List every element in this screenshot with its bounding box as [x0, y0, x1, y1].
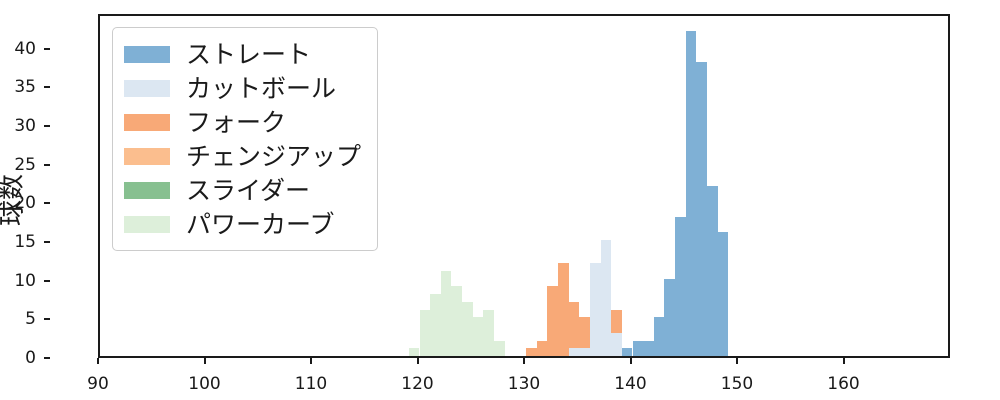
histogram-bar	[643, 341, 654, 356]
x-tick-mark	[97, 358, 99, 364]
histogram-bar	[611, 333, 622, 356]
x-tick-mark	[736, 358, 738, 364]
x-tick-label: 110	[295, 374, 327, 394]
histogram-bar	[718, 232, 729, 356]
y-tick-mark	[44, 318, 50, 320]
legend-item[interactable]: スライダー	[124, 173, 361, 207]
legend-color-swatch	[124, 80, 170, 97]
x-tick-label: 90	[87, 374, 109, 394]
legend-label: パワーカーブ	[186, 212, 335, 237]
legend-item[interactable]: パワーカーブ	[124, 207, 361, 241]
legend-label: ストレート	[186, 42, 311, 67]
legend-label: カットボール	[186, 76, 336, 101]
histogram-bar	[569, 348, 580, 356]
y-tick-label: 30	[14, 116, 36, 136]
x-tick-mark	[630, 358, 632, 364]
legend-label: フォーク	[186, 110, 286, 135]
x-axis: 90100110120130140150160	[0, 358, 1000, 400]
y-tick-label: 10	[14, 271, 36, 291]
y-tick-mark	[44, 164, 50, 166]
legend-label: スライダー	[186, 178, 310, 203]
x-tick-label: 140	[614, 374, 646, 394]
histogram-bar	[707, 186, 718, 356]
histogram-bar	[526, 348, 537, 356]
legend-label: チェンジアップ	[186, 144, 361, 169]
histogram-bar	[483, 310, 494, 356]
histogram-bar	[420, 310, 431, 356]
histogram-bar	[696, 62, 707, 356]
y-tick-label: 20	[14, 193, 36, 213]
y-tick-label: 40	[14, 39, 36, 59]
histogram-bar	[664, 279, 675, 356]
x-tick-label: 130	[508, 374, 540, 394]
histogram-bar	[590, 263, 601, 356]
x-tick-label: 100	[188, 374, 220, 394]
histogram-bar	[654, 317, 665, 356]
y-tick-mark	[44, 48, 50, 50]
y-tick-mark	[44, 241, 50, 243]
histogram-bar	[462, 302, 473, 356]
legend-color-swatch	[124, 46, 170, 63]
y-tick-label: 35	[14, 77, 36, 97]
legend-color-swatch	[124, 148, 170, 165]
histogram-bar	[601, 240, 612, 356]
histogram-bar	[558, 263, 569, 356]
x-tick-mark	[417, 358, 419, 364]
legend-color-swatch	[124, 114, 170, 131]
histogram-bar	[430, 294, 441, 356]
histogram-bar	[686, 31, 697, 356]
x-tick-mark	[843, 358, 845, 364]
legend-item[interactable]: カットボール	[124, 71, 361, 105]
y-tick-mark	[44, 280, 50, 282]
histogram-bar	[451, 286, 462, 356]
legend-item[interactable]: チェンジアップ	[124, 139, 361, 173]
x-tick-label: 150	[721, 374, 753, 394]
histogram-bar	[579, 348, 590, 356]
histogram-bar	[473, 317, 484, 356]
y-axis: 球数 0510152025303540	[0, 0, 98, 400]
y-tick-label: 25	[14, 155, 36, 175]
y-tick-mark	[44, 86, 50, 88]
legend-color-swatch	[124, 182, 170, 199]
histogram-figure: 球数 0510152025303540 90100110120130140150…	[0, 0, 1000, 400]
y-tick-mark	[44, 125, 50, 127]
histogram-bar	[633, 341, 644, 356]
x-tick-mark	[310, 358, 312, 364]
histogram-bar	[547, 286, 558, 356]
y-tick-label: 15	[14, 232, 36, 252]
histogram-bar	[622, 348, 633, 356]
x-tick-mark	[204, 358, 206, 364]
x-tick-label: 160	[827, 374, 859, 394]
chart-legend: ストレートカットボールフォークチェンジアップスライダーパワーカーブ	[112, 27, 378, 251]
x-tick-mark	[523, 358, 525, 364]
legend-item[interactable]: フォーク	[124, 105, 361, 139]
legend-color-swatch	[124, 216, 170, 233]
histogram-bar	[675, 217, 686, 356]
y-tick-mark	[44, 202, 50, 204]
histogram-bar	[409, 348, 420, 356]
histogram-bar	[494, 341, 505, 356]
histogram-bar	[537, 341, 548, 356]
y-tick-label: 5	[25, 309, 36, 329]
legend-item[interactable]: ストレート	[124, 37, 361, 71]
x-tick-label: 120	[401, 374, 433, 394]
histogram-bar	[441, 271, 452, 356]
